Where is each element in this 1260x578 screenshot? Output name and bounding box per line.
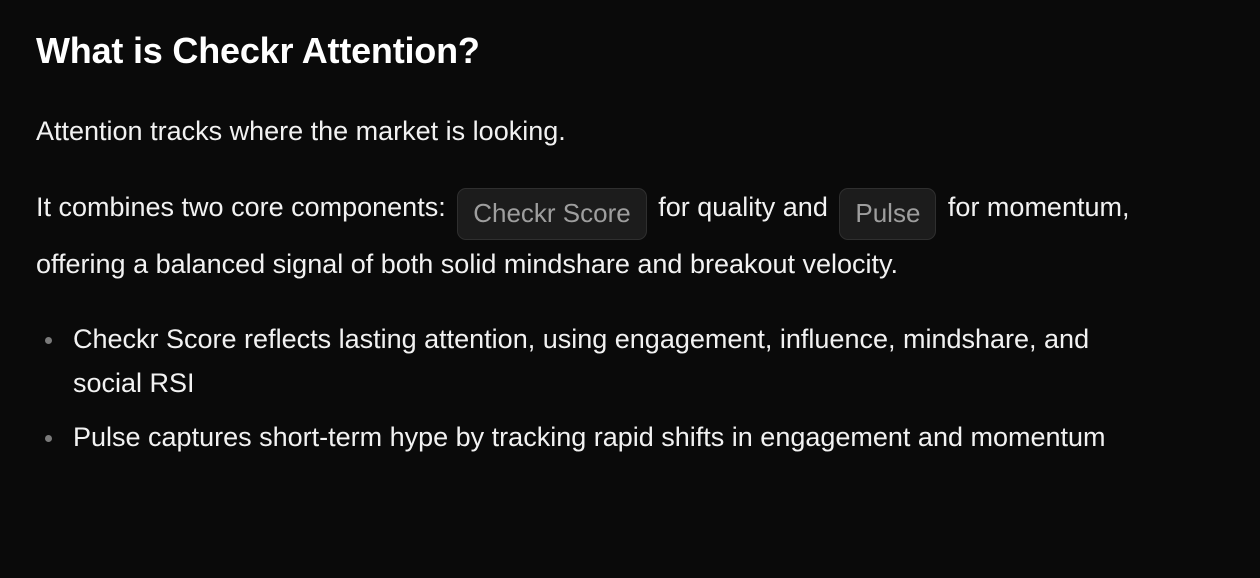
bullet-dot-icon (45, 435, 52, 442)
components-text-part-2: for quality and (658, 192, 828, 222)
feature-bullet-list: Checkr Score reflects lasting attention,… (36, 318, 1220, 459)
list-item: Checkr Score reflects lasting attention,… (36, 318, 1220, 405)
bullet-dot-icon (45, 337, 52, 344)
page-title: What is Checkr Attention? (36, 28, 1220, 73)
pulse-pill[interactable]: Pulse (839, 188, 936, 240)
checkr-score-pill[interactable]: Checkr Score (457, 188, 647, 240)
components-text-part-1: It combines two core components: (36, 192, 446, 222)
list-item-label: Checkr Score reflects lasting attention,… (73, 318, 1155, 405)
article-content-panel: What is Checkr Attention? Attention trac… (0, 0, 1260, 578)
lead-paragraph: Attention tracks where the market is loo… (36, 107, 1156, 155)
list-item: Pulse captures short-term hype by tracki… (36, 416, 1220, 460)
list-item-label: Pulse captures short-term hype by tracki… (73, 416, 1106, 460)
components-paragraph: It combines two core components: Checkr … (36, 183, 1156, 288)
